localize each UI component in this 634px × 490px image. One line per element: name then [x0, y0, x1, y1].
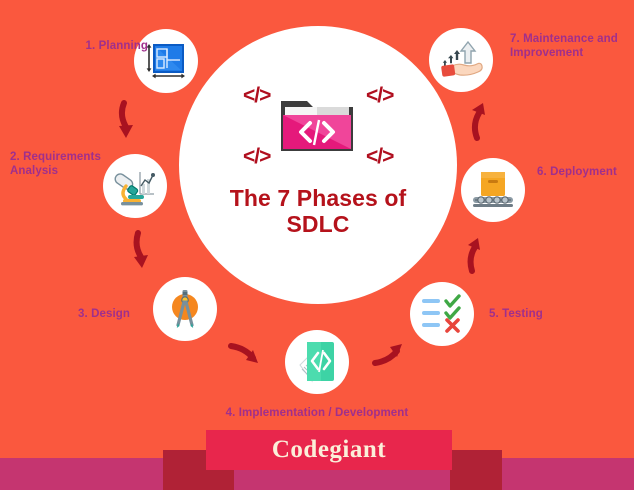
- phase-node-5-testing[interactable]: [410, 282, 474, 346]
- phase-label-2: 2. Requirements Analysis: [10, 150, 120, 178]
- hand-upward-arrows-icon: [438, 38, 484, 82]
- code-tag-bottom-left: </>: [243, 145, 270, 169]
- brand-name: Codegiant: [272, 436, 386, 464]
- title-line-2: SDLC: [199, 211, 437, 237]
- footer-bar-accent-right: [450, 450, 502, 490]
- curved-arrow-icon-1-to-2: [116, 100, 150, 147]
- phase-label-5: 5. Testing: [489, 307, 579, 321]
- curved-arrow-icon-2-to-3: [130, 230, 164, 277]
- footer-bar-mid: [330, 472, 450, 490]
- title-line-1: The 7 Phases of: [199, 185, 437, 211]
- page-title: The 7 Phases of SDLC: [199, 185, 437, 237]
- infographic-canvas: </> </> </> </> The 7 Phases of SDLC: [0, 0, 634, 490]
- phase-label-7: 7. Maintenance and Improvement: [510, 32, 630, 60]
- curved-arrow-icon-6-to-7: [465, 100, 499, 147]
- checklist-icon: [420, 294, 464, 334]
- phase-node-7-maintenance[interactable]: [429, 28, 493, 92]
- phase-label-3: 3. Design: [78, 307, 148, 321]
- conveyor-box-icon: [470, 169, 516, 211]
- code-document-icon: [296, 339, 338, 385]
- code-tag-top-left: </>: [243, 84, 270, 108]
- center-disc: [179, 26, 457, 304]
- curved-arrow-icon-5-to-6: [462, 235, 496, 280]
- curved-arrow-icon-3-to-4: [228, 340, 268, 379]
- phase-node-3-design[interactable]: [153, 277, 217, 341]
- phase-label-1: 1. Planning: [58, 39, 148, 53]
- code-tag-top-right: </>: [366, 84, 393, 108]
- phase-label-6: 6. Deployment: [537, 165, 632, 179]
- code-folder-icon: [277, 93, 357, 155]
- phase-node-4-implementation[interactable]: [285, 330, 349, 394]
- phase-label-4: 4. Implementation / Development: [182, 406, 452, 420]
- blueprint-icon: [145, 40, 187, 82]
- phase-node-6-deployment[interactable]: [461, 158, 525, 222]
- curved-arrow-icon-4-to-5: [372, 338, 412, 377]
- drafting-compass-icon: [163, 287, 207, 331]
- code-tag-bottom-right: </>: [366, 145, 393, 169]
- brand-banner: Codegiant: [206, 430, 452, 470]
